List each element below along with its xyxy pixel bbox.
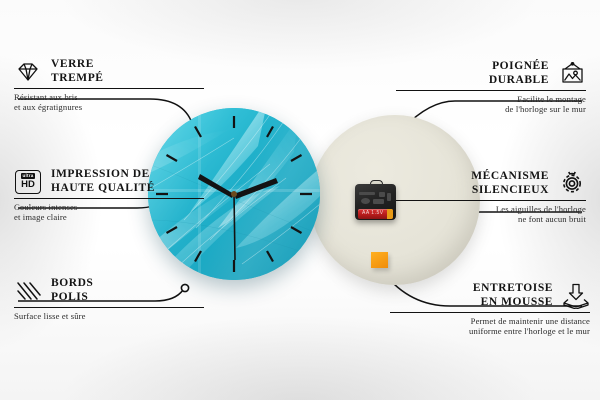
feature-impression-haute-qualite: ultra HD IMPRESSION DE HAUTE QUALITÉ Cou… [14, 168, 204, 223]
feature-poignee-durable: POIGNÉE DURABLE Facilite le montage de l… [396, 60, 586, 115]
feature-desc-line2: ne font aucun bruit [518, 214, 586, 224]
diamond-icon [14, 59, 42, 85]
ultra-hd-icon: ultra HD [14, 169, 42, 195]
feature-desc-line2: et image claire [14, 212, 67, 222]
feature-title-line2: POLIS [51, 291, 88, 303]
feature-title-line2: DURABLE [489, 74, 549, 86]
feature-divider [14, 88, 204, 89]
feature-divider [396, 200, 586, 201]
foam-spacer [371, 252, 388, 268]
clock-mechanism: AA 1.5V [355, 180, 396, 220]
feature-title-line1: POIGNÉE [492, 60, 549, 72]
infographic-canvas: AA 1.5V [0, 0, 600, 400]
feature-title-line1: ENTRETOISE [473, 282, 553, 294]
feature-divider [390, 312, 590, 313]
feature-title: VERRE TREMPÉ [51, 58, 104, 85]
feature-title: BORDS POLIS [51, 277, 93, 304]
hanging-frame-icon [558, 61, 586, 87]
feature-divider [14, 198, 204, 199]
battery-terminal [387, 209, 393, 219]
feature-title-line1: IMPRESSION DE [51, 168, 150, 180]
feature-header: MÉCANISME SILENCIEUX [396, 170, 586, 197]
feature-divider [396, 90, 586, 91]
feature-header: ultra HD IMPRESSION DE HAUTE QUALITÉ [14, 168, 204, 195]
feature-title: ENTRETOISE EN MOUSSE [473, 282, 553, 309]
feature-desc-line1: Facilite le montage [517, 94, 586, 104]
feature-header: POIGNÉE DURABLE [396, 60, 586, 87]
clock-hands [198, 174, 278, 260]
feature-desc-line1: Résistant aux bris [14, 92, 78, 102]
feature-desc-line1: Les aiguilles de l'horloge [496, 204, 586, 214]
feature-divider [14, 307, 204, 308]
feature-description: Permet de maintenir une distance uniform… [390, 316, 590, 337]
feature-description: Résistant aux bris et aux égratignures [14, 92, 204, 113]
arrow-onto-pad-icon [562, 283, 590, 309]
feature-bords-polis: BORDS POLIS Surface lisse et sûre [14, 277, 204, 321]
feature-title-line1: BORDS [51, 277, 93, 289]
mechanism-battery: AA 1.5V [358, 209, 393, 219]
feature-description: Les aiguilles de l'horloge ne font aucun… [396, 204, 586, 225]
feature-title-line1: MÉCANISME [471, 170, 549, 182]
feature-desc-line1: Permet de maintenir une distance [471, 316, 590, 326]
mechanism-body: AA 1.5V [355, 184, 396, 220]
feature-desc-line2: de l'horloge sur le mur [505, 104, 586, 114]
feature-header: BORDS POLIS [14, 277, 204, 304]
feature-title: POIGNÉE DURABLE [489, 60, 549, 87]
feature-entretoise-en-mousse: ENTRETOISE EN MOUSSE Permet de maintenir… [390, 282, 590, 337]
gear-icon [558, 171, 586, 197]
feature-title: MÉCANISME SILENCIEUX [471, 170, 549, 197]
feature-description: Couleurs intenses et image claire [14, 202, 204, 223]
feature-mecanisme-silencieux: MÉCANISME SILENCIEUX Les aiguilles de l'… [396, 170, 586, 225]
feature-title-line2: EN MOUSSE [481, 296, 553, 308]
feature-header: VERRE TREMPÉ [14, 58, 204, 85]
feature-description: Surface lisse et sûre [14, 311, 204, 321]
feature-title-line2: TREMPÉ [51, 72, 104, 84]
feature-desc-line1: Surface lisse et sûre [14, 311, 86, 321]
feature-title-line1: VERRE [51, 58, 94, 70]
feature-desc-line2: et aux égratignures [14, 102, 82, 112]
feature-title: IMPRESSION DE HAUTE QUALITÉ [51, 168, 155, 195]
feature-desc-line1: Couleurs intenses [14, 202, 77, 212]
feature-desc-line2: uniforme entre l'horloge et le mur [469, 326, 590, 336]
mechanism-details [359, 192, 392, 204]
feature-header: ENTRETOISE EN MOUSSE [390, 282, 590, 309]
diagonal-stripes-icon [14, 278, 42, 304]
battery-label: AA 1.5V [362, 210, 384, 216]
feature-title-line2: SILENCIEUX [472, 184, 549, 196]
feature-verre-trempe: VERRE TREMPÉ Résistant aux bris et aux é… [14, 58, 204, 113]
feature-description: Facilite le montage de l'horloge sur le … [396, 94, 586, 115]
feature-title-line2: HAUTE QUALITÉ [51, 182, 155, 194]
ultra-hd-main-label: HD [21, 180, 35, 190]
